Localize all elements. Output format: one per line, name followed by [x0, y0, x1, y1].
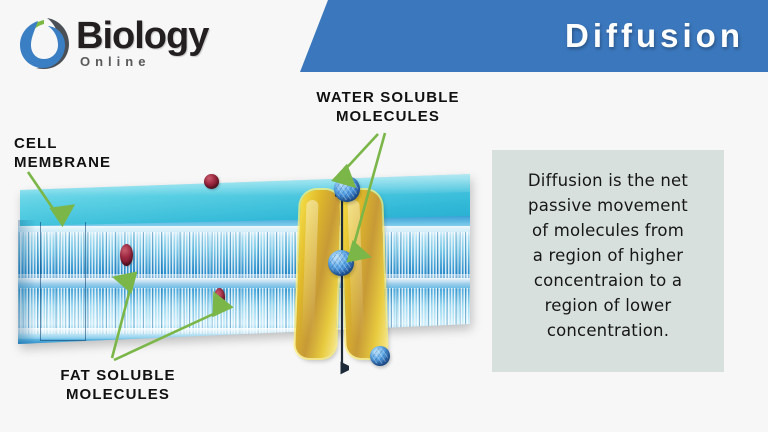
label-water-soluble-molecules: WATER SOLUBLE MOLECULES [288, 88, 488, 126]
definition-panel: Diffusion is the netpassive movementof m… [492, 150, 724, 372]
transport-direction-arrow [335, 176, 349, 376]
label-cell-membrane: CELL MEMBRANE [14, 134, 111, 172]
definition-text: Diffusion is the netpassive movementof m… [500, 168, 716, 343]
phospholipid-bilayer [18, 168, 478, 358]
label-fat-soluble-molecules: FAT SOLUBLE MOLECULES [28, 366, 208, 404]
biology-online-logo-icon [14, 14, 72, 72]
membrane-surface-highlight [20, 174, 470, 196]
definition-line: passive movement [500, 193, 716, 218]
definition-line: Diffusion is the net [500, 168, 716, 193]
page-title: Diffusion [565, 17, 744, 55]
membrane-cut-face [18, 220, 36, 344]
fat-soluble-molecule [120, 244, 133, 266]
definition-line: region of lower [500, 293, 716, 318]
definition-line: concentraion to a [500, 268, 716, 293]
definition-line: a region of higher [500, 243, 716, 268]
header-banner: Diffusion [300, 0, 768, 72]
water-soluble-molecule [370, 346, 390, 366]
membrane-guide-rectangle [40, 222, 86, 341]
fat-soluble-molecule [214, 288, 225, 307]
definition-line: concentration. [500, 318, 716, 343]
fat-soluble-molecule [204, 174, 219, 189]
slide-canvas: Diffusion Biology Online CELL MEMBRANE W… [0, 0, 768, 432]
water-soluble-molecule [334, 176, 360, 202]
membrane-illustration [18, 168, 488, 368]
definition-line: of molecules from [500, 218, 716, 243]
logo-wordmark: Biology [76, 16, 208, 56]
logo-subtitle: Online [80, 54, 150, 69]
water-soluble-molecule [328, 250, 354, 276]
brand-logo[interactable]: Biology Online [14, 14, 264, 76]
